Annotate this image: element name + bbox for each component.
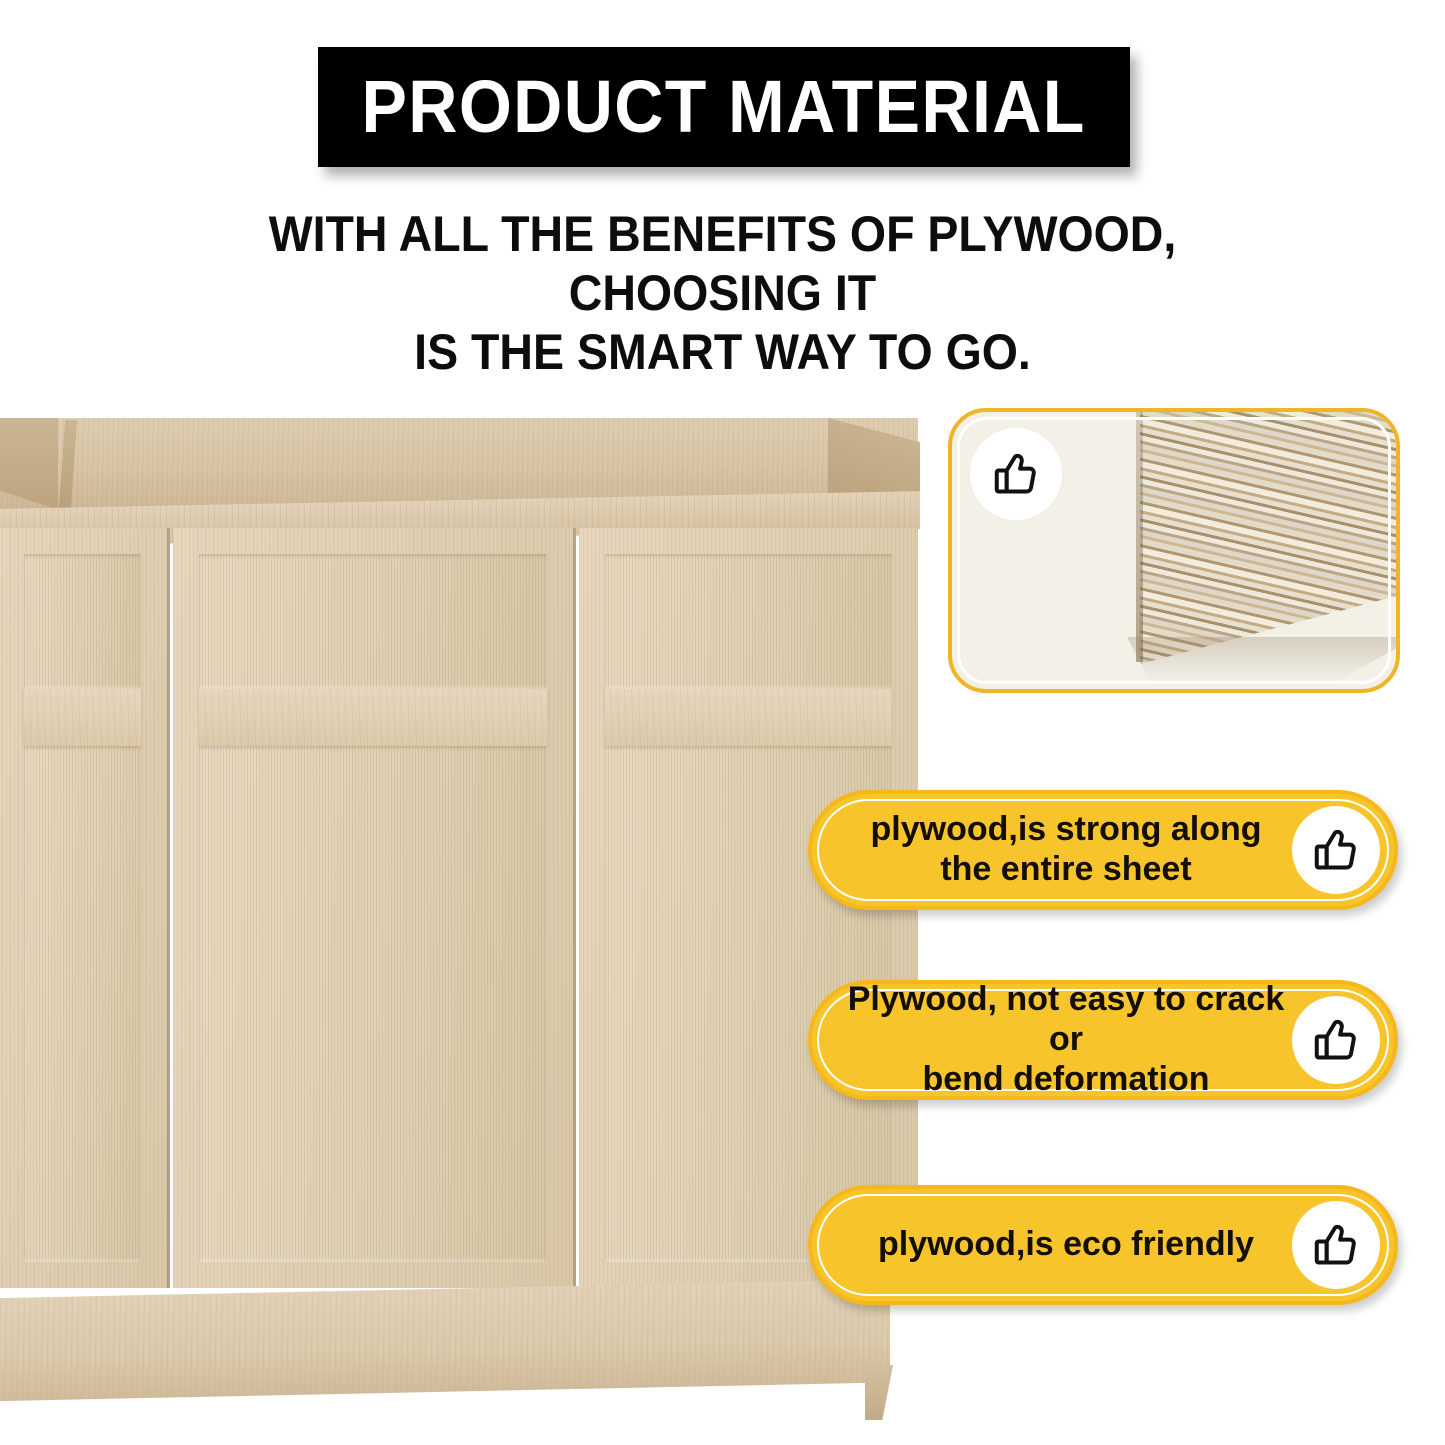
feature-pill-label: plywood,is strong along the entire sheet xyxy=(812,810,1292,890)
plywood-corner-edge xyxy=(1136,412,1143,662)
plywood-shadow xyxy=(1127,637,1400,682)
cabinet-toe-kick xyxy=(0,1279,890,1403)
door-panel-top xyxy=(24,554,141,689)
product-photo-cabinet xyxy=(0,400,920,1330)
feature-line-2: the entire sheet xyxy=(940,850,1191,888)
header-section: PRODUCT MATERIAL WITH ALL THE BENEFITS O… xyxy=(0,0,1445,380)
subtitle: WITH ALL THE BENEFITS OF PLYWOOD, CHOOSI… xyxy=(110,205,1335,382)
thumbs-up-icon xyxy=(1292,806,1380,894)
cabinet-door-center xyxy=(173,528,576,1288)
cabinet-door-bank xyxy=(0,528,918,1303)
feature-line-2: bend deformation xyxy=(922,1060,1209,1098)
thumbs-up-icon xyxy=(970,428,1062,520)
title-banner: PRODUCT MATERIAL xyxy=(318,47,1130,167)
page-title: PRODUCT MATERIAL xyxy=(362,70,1086,144)
cabinet-door-left xyxy=(0,528,170,1288)
door-rail-middle xyxy=(24,689,141,746)
feature-pill-label: plywood,is eco friendly xyxy=(812,1225,1292,1265)
feature-pill-durability[interactable]: Plywood, not easy to crack or bend defor… xyxy=(808,980,1398,1100)
subtitle-line-2: IS THE SMART WAY TO GO. xyxy=(153,323,1292,382)
feature-line-1: plywood,is eco friendly xyxy=(878,1225,1254,1263)
cabinet-foot xyxy=(865,1365,893,1420)
door-panel-bottom xyxy=(199,746,547,1262)
plywood-detail-card xyxy=(948,408,1400,693)
subtitle-line-1: WITH ALL THE BENEFITS OF PLYWOOD, CHOOSI… xyxy=(153,205,1292,323)
door-panel-top xyxy=(605,554,892,689)
thumbs-up-icon xyxy=(1292,1201,1380,1289)
feature-line-1: plywood,is strong along xyxy=(871,810,1262,848)
feature-line-1: Plywood, not easy to crack or xyxy=(848,980,1284,1058)
door-rail-middle xyxy=(605,689,892,746)
thumbs-up-icon xyxy=(1292,996,1380,1084)
door-panel-top xyxy=(199,554,547,689)
plywood-right-face xyxy=(1140,412,1400,664)
feature-pill-label: Plywood, not easy to crack or bend defor… xyxy=(812,980,1292,1099)
door-panel-bottom xyxy=(24,746,141,1262)
feature-pill-eco[interactable]: plywood,is eco friendly xyxy=(808,1185,1398,1305)
feature-pill-strength[interactable]: plywood,is strong along the entire sheet xyxy=(808,790,1398,910)
door-rail-middle xyxy=(199,689,547,746)
